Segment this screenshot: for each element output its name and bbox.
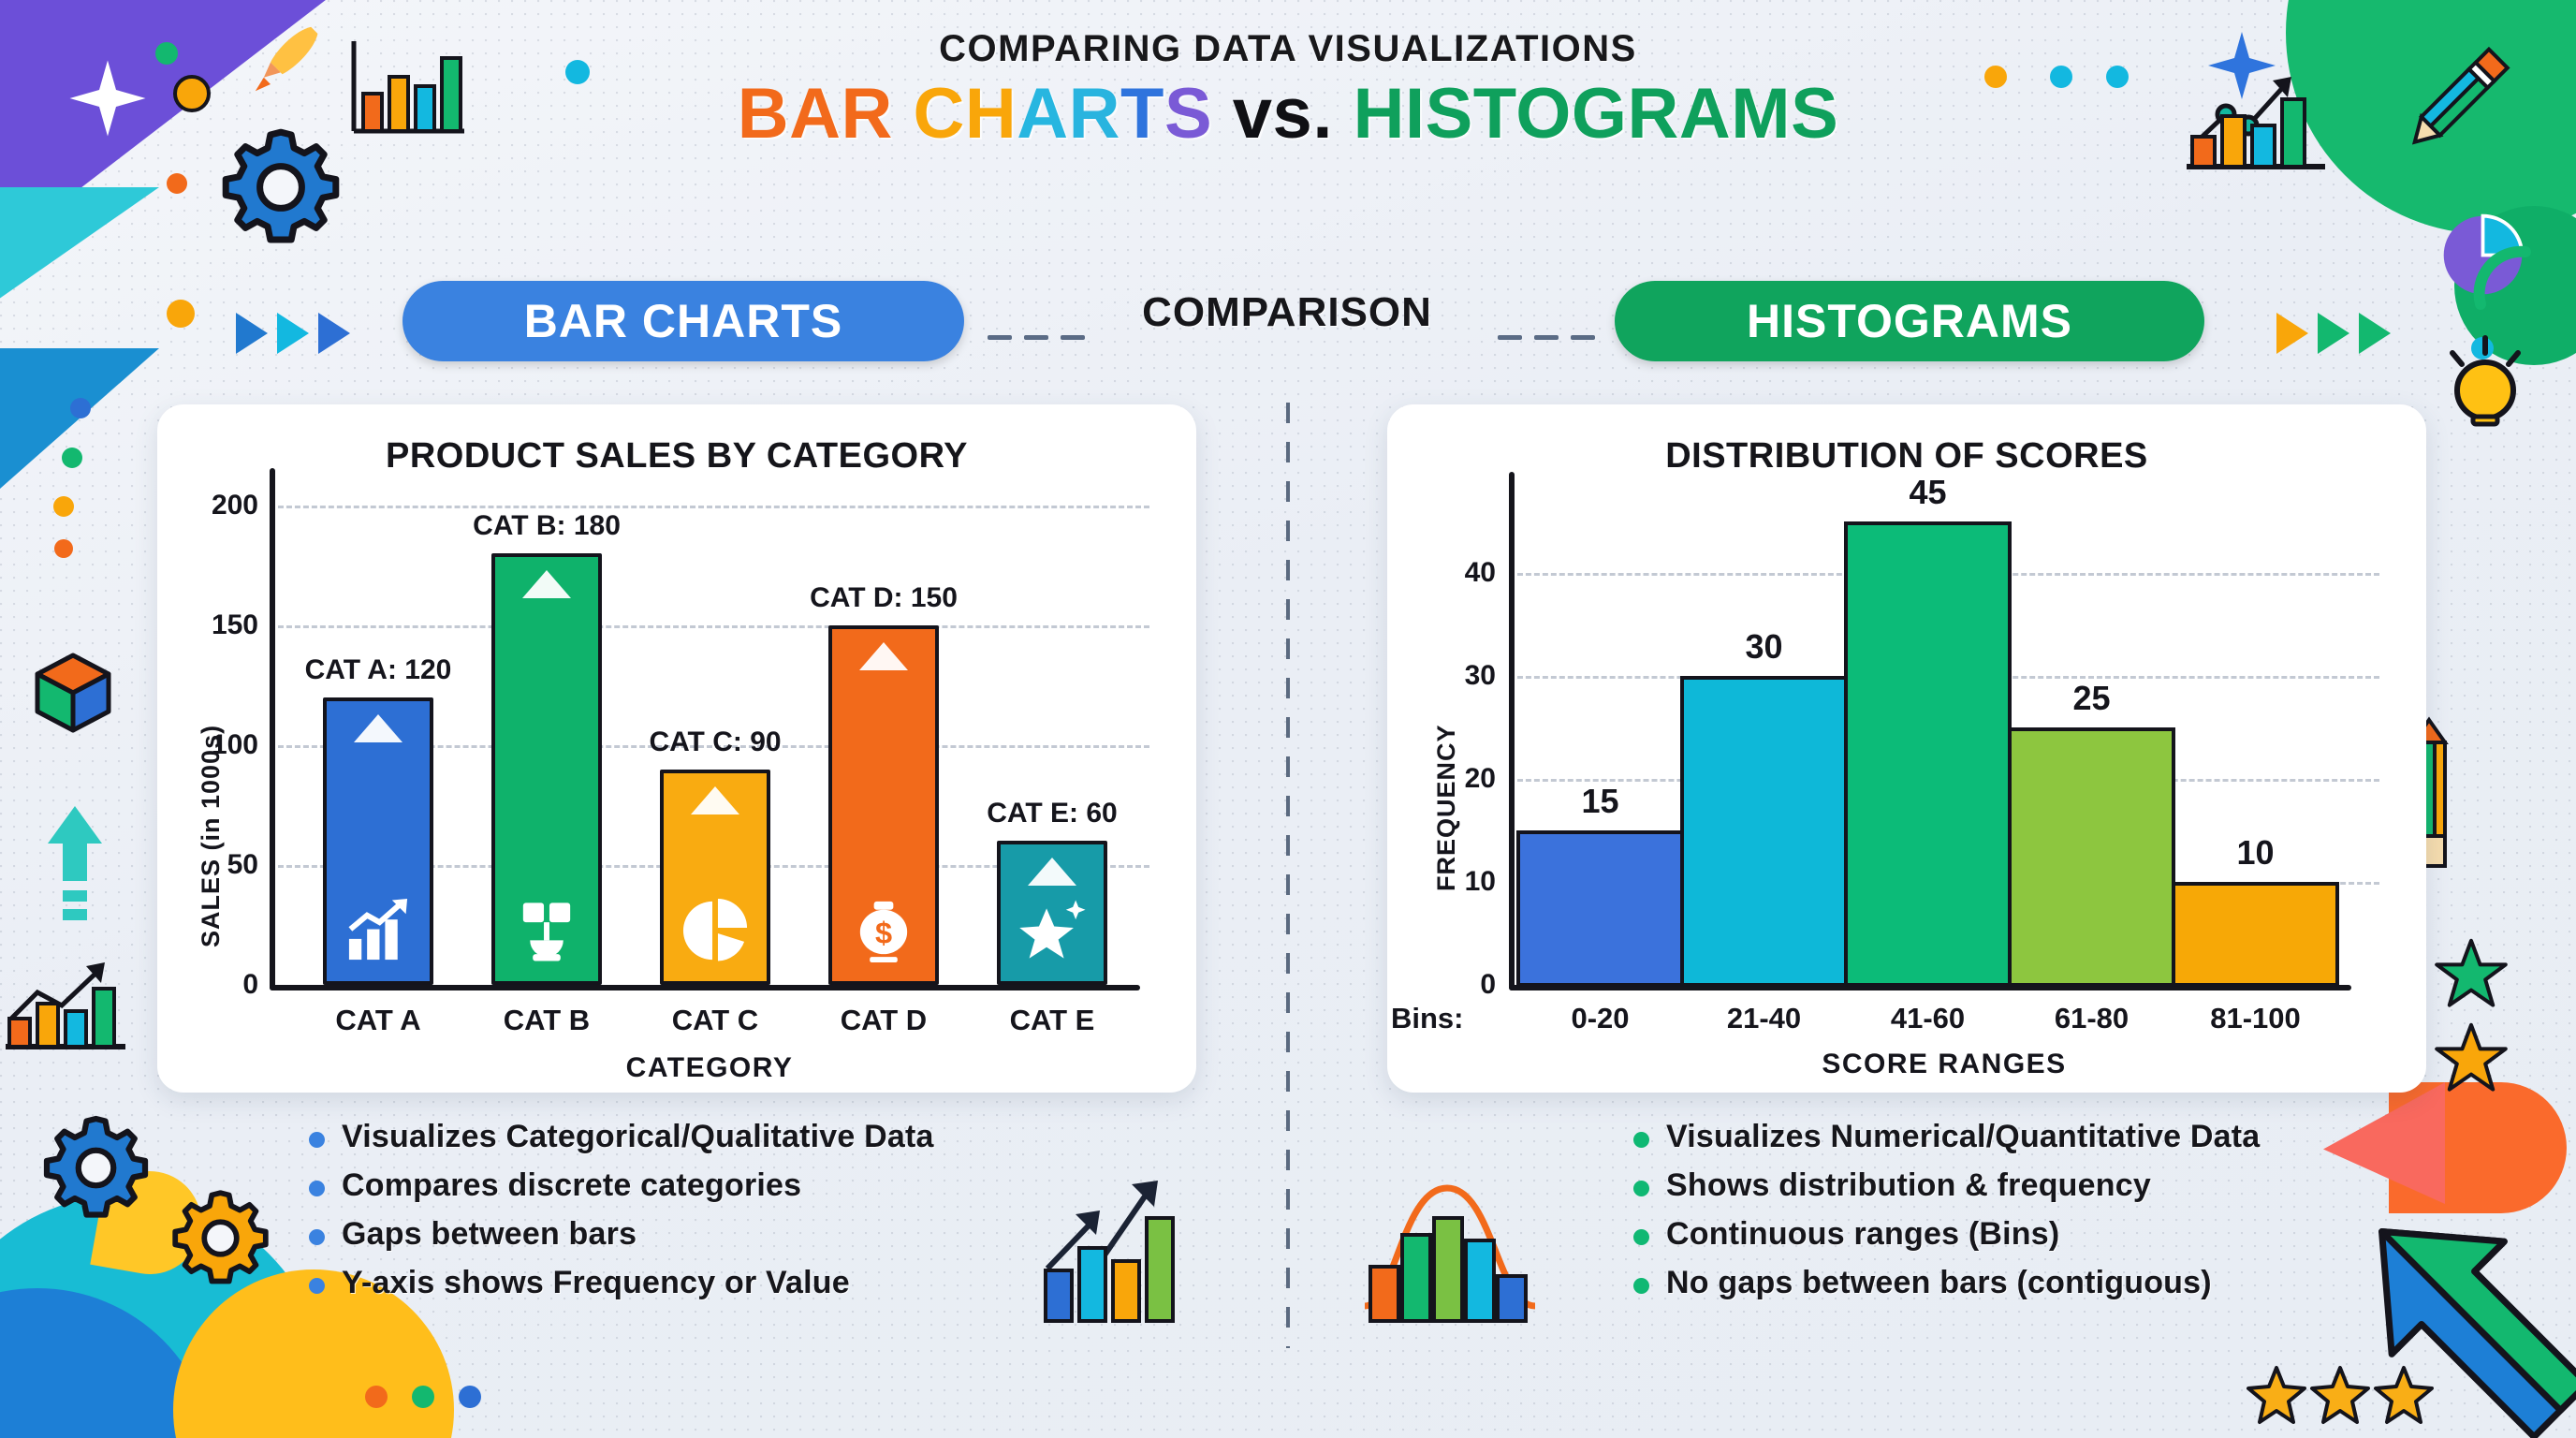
gridline [270, 506, 1149, 508]
list-item: Gaps between bars [309, 1216, 934, 1253]
bar-value-label: CAT E: 60 [921, 798, 1183, 829]
tab-bar-charts-label: BAR CHARTS [524, 294, 843, 348]
title-segment-7: HISTOGRAMS [1354, 74, 1839, 154]
bar-value-label: CAT B: 180 [416, 510, 678, 542]
tab-histograms-label: HISTOGRAMS [1747, 294, 2072, 348]
bar-value-label: 45 [1807, 473, 2049, 512]
bar-chart-card: PRODUCT SALES BY CATEGORY SALES (in 1000… [157, 404, 1196, 1093]
svg-text:$: $ [875, 916, 892, 949]
bullet-dot-icon [309, 1132, 325, 1148]
x-axis-tick: CAT C [622, 1004, 809, 1037]
x-axis-label: CATEGORY [270, 1052, 1149, 1084]
list-item: Y-axis shows Frequency or Value [309, 1265, 934, 1301]
page-title: BAR CHARTS vs. HISTOGRAMS [0, 73, 2576, 154]
bullet-dot-icon [1633, 1278, 1649, 1294]
triangle-marker-icon [691, 786, 739, 814]
y-axis [270, 468, 275, 990]
histogram-plot: FREQUENCY010203040150-203021-404541-6025… [1387, 404, 2426, 1093]
gear-icon [37, 1109, 154, 1226]
bullet-dot-icon [1633, 1132, 1649, 1148]
list-item-label: Gaps between bars [342, 1216, 637, 1253]
list-item-label: No gaps between bars (contiguous) [1666, 1265, 2212, 1301]
y-axis-tick: 150 [185, 609, 258, 641]
dot-decoration [53, 496, 74, 517]
y-axis-tick: 0 [1425, 969, 1496, 1001]
bar-value-label: CAT A: 120 [247, 654, 509, 686]
bar-value-label: 10 [2134, 833, 2377, 873]
x-axis-tick: CAT B [453, 1004, 640, 1037]
y-axis [1509, 472, 1515, 990]
histogram-bar [1680, 676, 1848, 987]
infographic-canvas: COMPARING DATA VISUALIZATIONS BAR CHARTS… [0, 0, 2576, 1438]
bar [660, 770, 770, 985]
histogram-bar [1516, 830, 1684, 987]
x-axis-tick: CAT D [790, 1004, 977, 1037]
dot-decoration [412, 1386, 434, 1408]
title-segment-6: vs. [1212, 74, 1353, 154]
dashed-connector-right [1498, 328, 1607, 332]
tab-bar-charts[interactable]: BAR CHARTS [402, 281, 964, 361]
list-item: Continuous ranges (Bins) [1633, 1216, 2260, 1253]
vertical-divider [1286, 403, 1290, 1348]
y-axis-tick: 40 [1425, 557, 1496, 589]
bullet-dot-icon [309, 1181, 325, 1196]
title-segment-4: T [1120, 74, 1164, 154]
money-bag-icon: $ [849, 896, 918, 970]
gear-icon [167, 1184, 274, 1292]
x-axis [270, 985, 1140, 990]
up-arrow-icon [42, 800, 108, 922]
distribution-curve-icon [1357, 1156, 1563, 1325]
title-segment-2: A [1017, 74, 1068, 154]
y-axis-tick: 50 [185, 849, 258, 881]
y-axis-tick: 30 [1425, 660, 1496, 692]
growth-chart-icon [344, 896, 413, 970]
bar-chart-icon [0, 936, 131, 1058]
rating-stars-icon [2247, 1362, 2434, 1428]
dot-decoration [365, 1386, 388, 1408]
cube-icon [26, 646, 120, 740]
x-axis-tick: CAT A [285, 1004, 472, 1037]
page-kicker: COMPARING DATA VISUALIZATIONS [0, 28, 2576, 70]
y-axis-tick: 200 [185, 490, 258, 521]
pie-chart-icon [681, 896, 750, 970]
histogram-bar [1844, 521, 2012, 987]
bullet-dot-icon [1633, 1181, 1649, 1196]
blue-triangle-decoration [0, 348, 159, 629]
list-item-label: Compares discrete categories [342, 1167, 801, 1204]
gridline [270, 625, 1149, 628]
y-axis-tick: 0 [185, 969, 258, 1001]
bar-chart-icon [1034, 1156, 1222, 1325]
list-item: No gaps between bars (contiguous) [1633, 1265, 2260, 1301]
bar-chart-plot: SALES (in 1000s)050100150200CAT A: 120CA… [157, 404, 1196, 1093]
dot-decoration [62, 448, 82, 468]
star-icon [1017, 896, 1087, 970]
dot-decoration [70, 398, 91, 418]
triangle-marker-icon [522, 570, 571, 598]
bin-label: 81-100 [2144, 1002, 2367, 1035]
bar [323, 697, 433, 985]
star-icon [2434, 1020, 2509, 1095]
dot-decoration [167, 173, 187, 194]
star-icon [2434, 936, 2509, 1011]
histogram-card: DISTRIBUTION OF SCORES FREQUENCY01020304… [1387, 404, 2426, 1093]
list-item: Shows distribution & frequency [1633, 1167, 2260, 1204]
list-item-label: Visualizes Numerical/Quantitative Data [1666, 1119, 2260, 1155]
triangle-marker-icon [1028, 858, 1076, 886]
bar-value-label: CAT C: 90 [584, 726, 846, 758]
list-item-label: Continuous ranges (Bins) [1666, 1216, 2059, 1253]
triangle-marker-icon [354, 714, 402, 742]
histogram-bar [2172, 882, 2339, 987]
list-item-label: Visualizes Categorical/Qualitative Data [342, 1119, 934, 1155]
bullet-dot-icon [309, 1278, 325, 1294]
x-axis-tick: CAT E [959, 1004, 1146, 1037]
title-segment-3: R [1069, 74, 1120, 154]
bar [997, 841, 1107, 985]
histogram-feature-list: Visualizes Numerical/Quantitative DataSh… [1633, 1119, 2260, 1313]
bullet-dot-icon [1633, 1229, 1649, 1245]
tab-histograms[interactable]: HISTOGRAMS [1615, 281, 2204, 361]
y-axis-tick: 100 [185, 729, 258, 761]
x-axis-label: SCORE RANGES [1509, 1049, 2379, 1080]
bar [491, 553, 602, 985]
bar-value-label: 25 [1970, 679, 2213, 718]
comparison-label: COMPARISON [1086, 289, 1488, 336]
title-segment-5: S [1164, 74, 1212, 154]
comparison-header-row: BAR CHARTS COMPARISON HISTOGRAMS [0, 281, 2576, 365]
title-segment-0: BAR [738, 74, 914, 154]
list-item: Compares discrete categories [309, 1167, 934, 1204]
list-item: Visualizes Categorical/Qualitative Data [309, 1119, 934, 1155]
bullet-dot-icon [309, 1229, 325, 1245]
title-segment-1: CH [913, 74, 1017, 154]
triangle-marker-icon [859, 642, 908, 670]
bar-chart-feature-list: Visualizes Categorical/Qualitative DataC… [309, 1119, 934, 1313]
list-item-label: Shows distribution & frequency [1666, 1167, 2151, 1204]
podium-icon [512, 896, 581, 970]
dot-decoration [54, 539, 73, 558]
dashed-connector-left [988, 328, 1097, 332]
bins-prefix-label: Bins: [1391, 1002, 1464, 1035]
list-item-label: Y-axis shows Frequency or Value [342, 1265, 850, 1301]
bar-value-label: CAT D: 150 [753, 582, 1015, 614]
list-item: Visualizes Numerical/Quantitative Data [1633, 1119, 2260, 1155]
dot-decoration [459, 1386, 481, 1408]
y-axis-tick: 10 [1425, 866, 1496, 898]
